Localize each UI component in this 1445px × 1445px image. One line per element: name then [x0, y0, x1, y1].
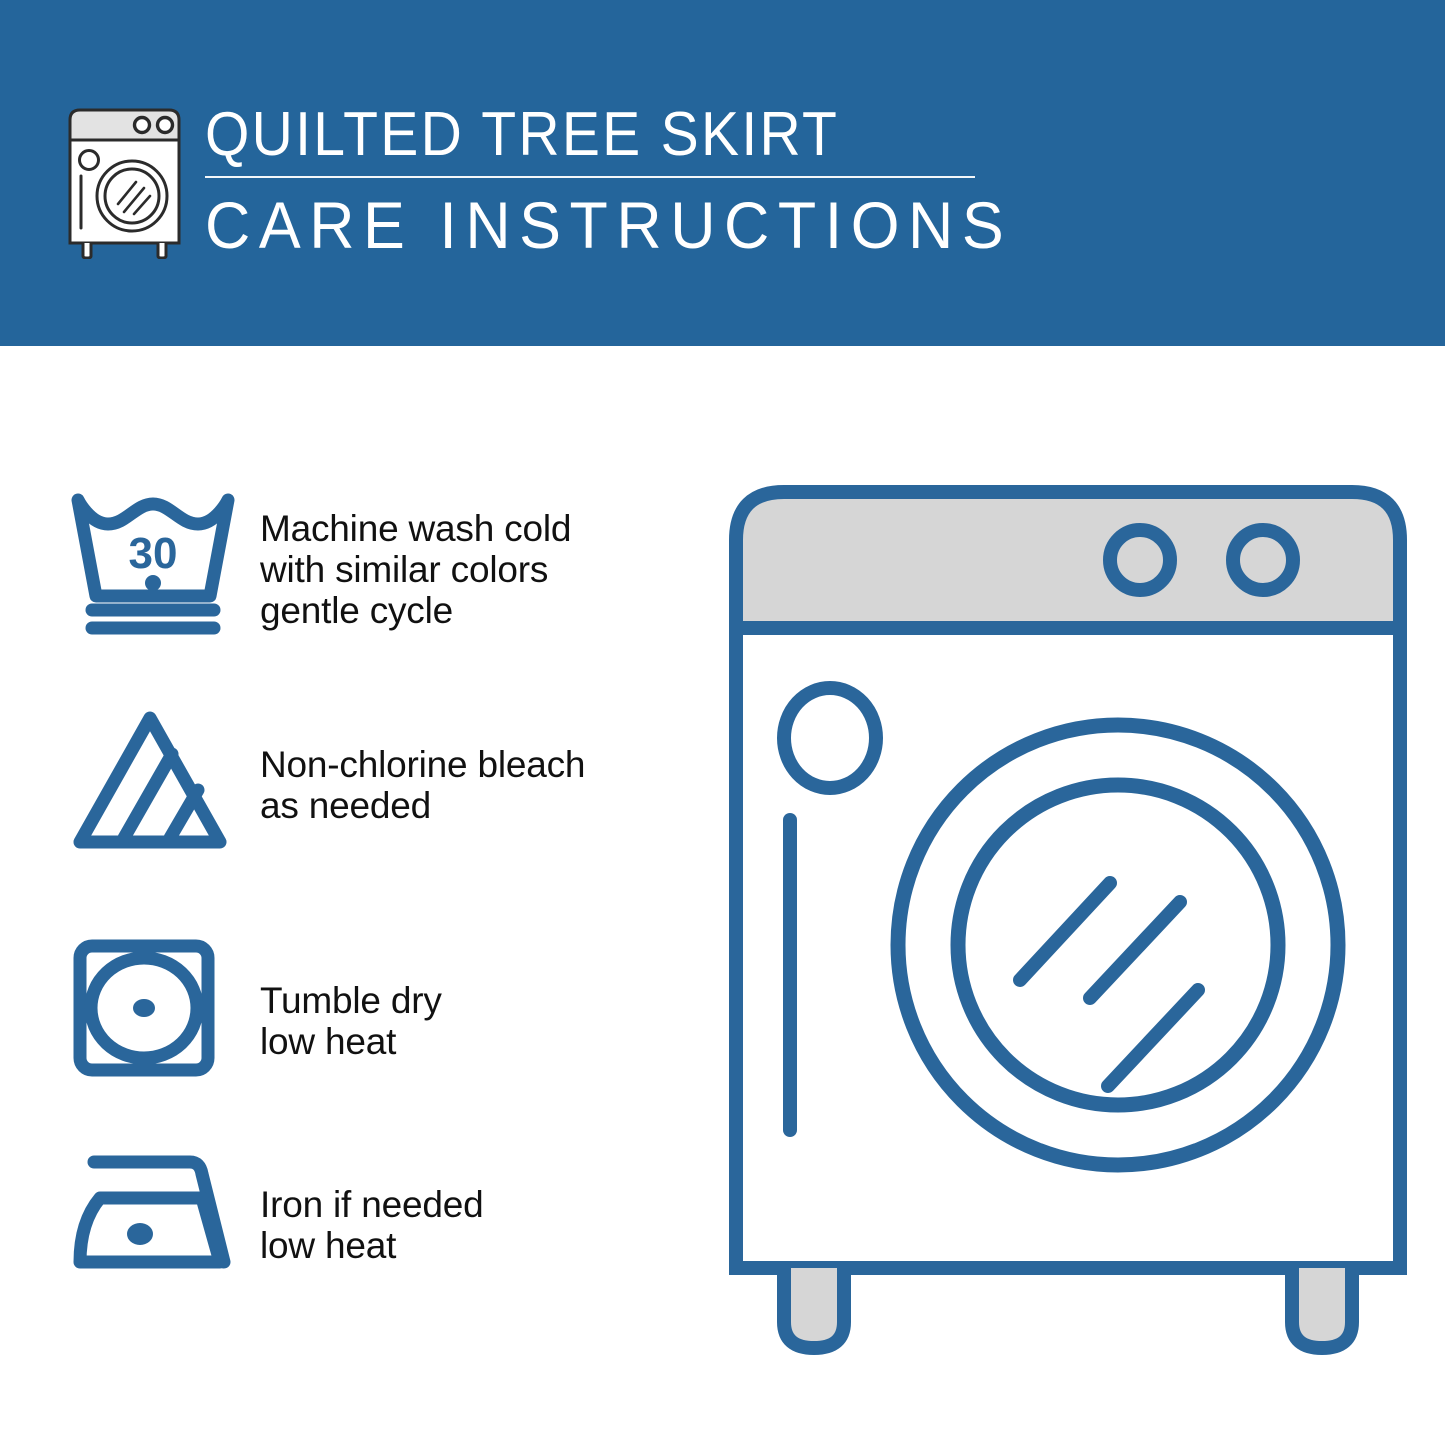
leg-left [784, 1268, 844, 1348]
care-row-iron: Iron if needed low heat [0, 1146, 700, 1276]
care-text-iron: Iron if needed low heat [260, 1146, 700, 1266]
care-row-bleach: Non-chlorine bleach as needed [0, 706, 700, 856]
care-row-tumble-dry: Tumble dry low heat [0, 936, 700, 1081]
wash-tub-30-gentle-icon: 30 [68, 486, 238, 641]
wash-temperature-label: 30 [129, 529, 178, 578]
tumble-dry-low-heat-icon [68, 936, 238, 1081]
washing-machine-icon [62, 104, 187, 259]
care-instructions-infographic: QUILTED TREE SKIRT CARE INSTRUCTIONS 30 [0, 0, 1445, 1445]
care-text-tumble-dry: Tumble dry low heat [260, 936, 700, 1062]
page-subtitle: CARE INSTRUCTIONS [205, 188, 965, 262]
care-row-machine-wash: 30 Machine wash cold with similar colors… [0, 486, 700, 641]
header-text-block: QUILTED TREE SKIRT CARE INSTRUCTIONS [205, 100, 1005, 262]
leg-right [1292, 1268, 1352, 1348]
care-instruction-list: 30 Machine wash cold with similar colors… [0, 346, 700, 1445]
non-chlorine-bleach-triangle-icon [68, 706, 238, 856]
page-title: QUILTED TREE SKIRT [205, 100, 941, 170]
washing-machine-illustration [718, 470, 1418, 1370]
care-text-machine-wash: Machine wash cold with similar colors ge… [260, 486, 700, 631]
care-text-bleach: Non-chlorine bleach as needed [260, 706, 700, 826]
title-divider [205, 176, 975, 178]
iron-low-heat-icon [68, 1146, 238, 1276]
header-banner: QUILTED TREE SKIRT CARE INSTRUCTIONS [0, 0, 1445, 346]
control-panel [736, 492, 1400, 628]
